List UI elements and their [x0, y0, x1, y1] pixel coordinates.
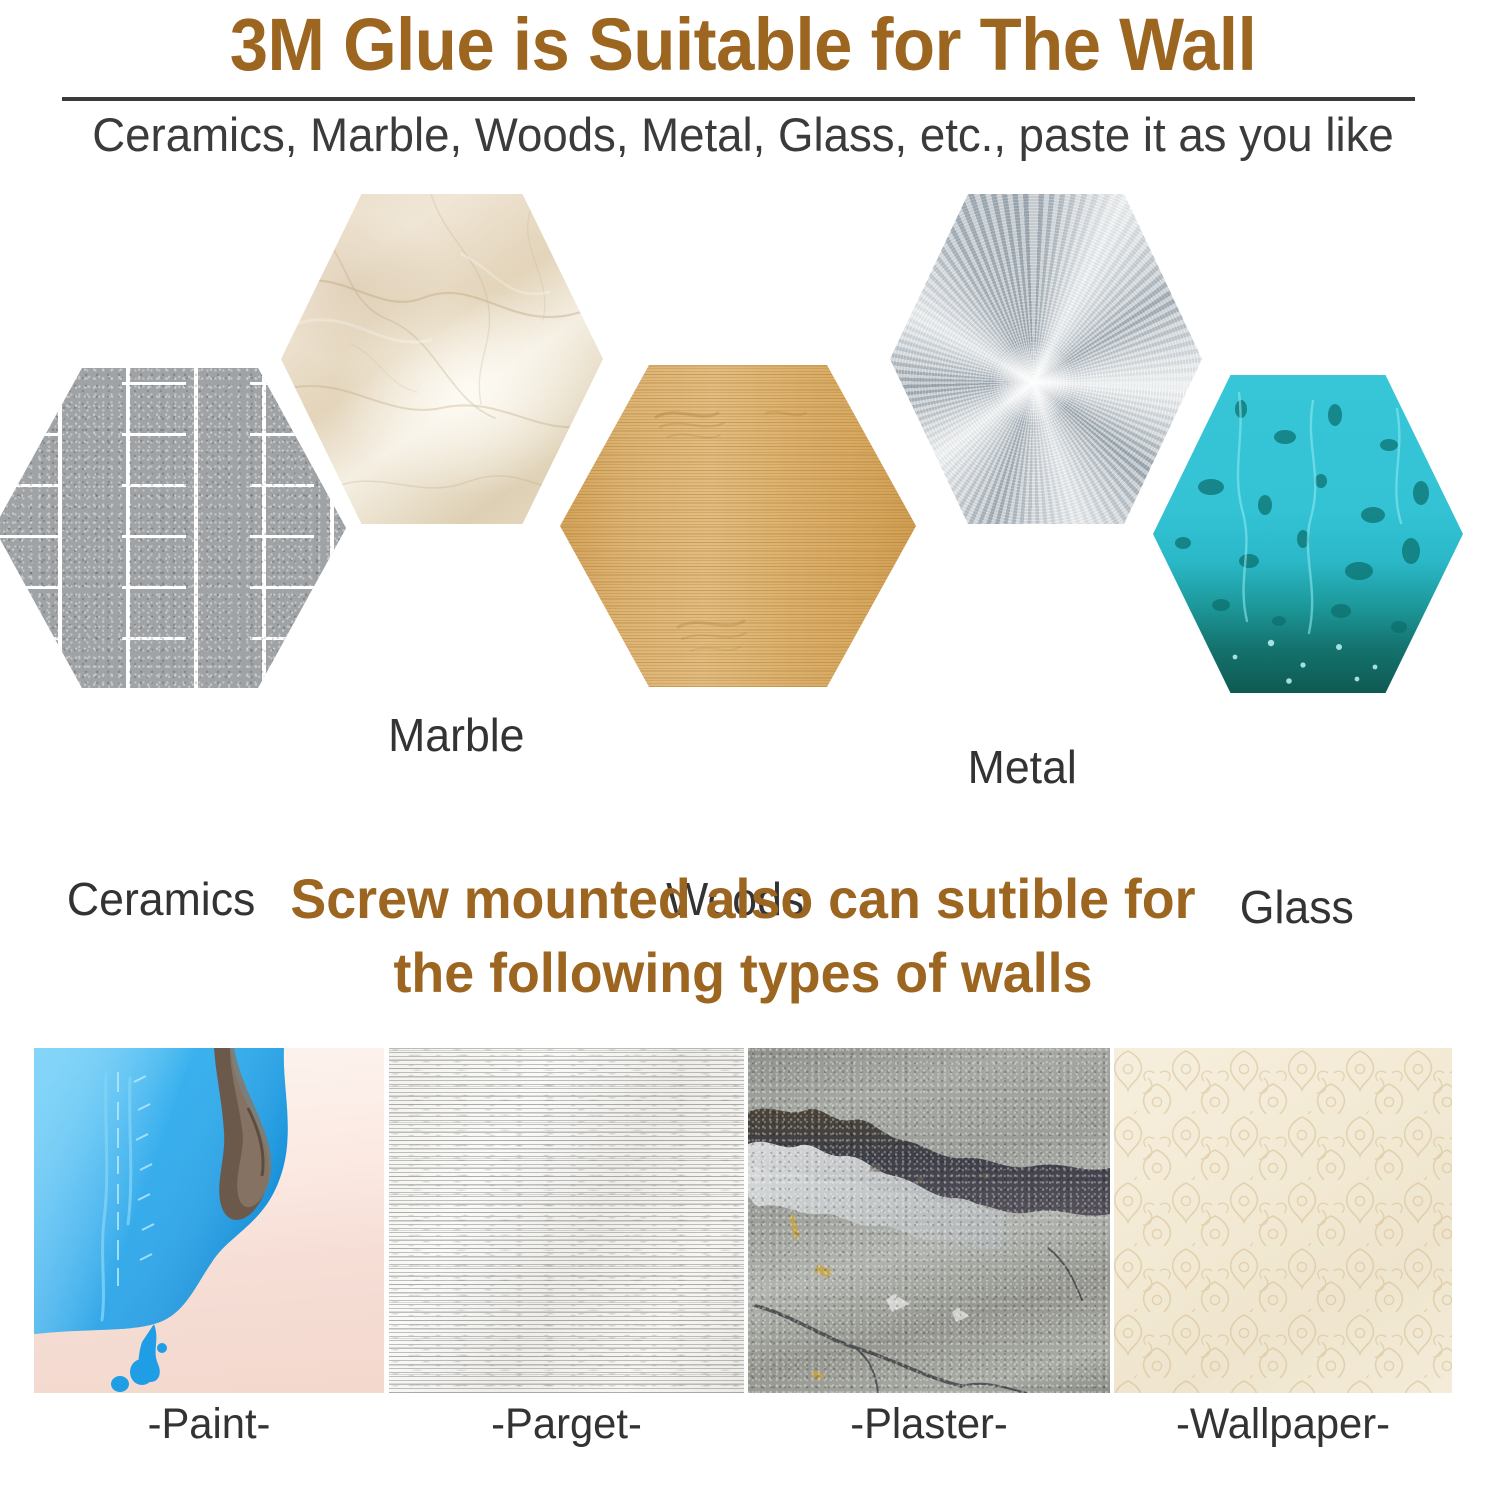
screw-heading-line-1: Screw mounted also can sutible for [30, 862, 1457, 936]
wall-label-wallpaper: -Wallpaper- [1119, 1400, 1447, 1449]
wallpaper-damask-pattern [1114, 1048, 1452, 1393]
surface-hexagon-row: Ceramics Marble Woods Metal Glass [0, 180, 1486, 780]
water-droplet-texture [1153, 375, 1463, 693]
wall-image-plaster [748, 1048, 1110, 1393]
wood-knot-marks [560, 365, 916, 687]
parget-fleck-texture [389, 1048, 744, 1393]
wall-image-wallpaper [1114, 1048, 1452, 1393]
wall-label-paint: -Paint- [39, 1400, 379, 1449]
wall-image-parget [389, 1048, 744, 1393]
marble-vein-lines [281, 194, 603, 524]
hexagon-swatch-glass [1153, 375, 1463, 693]
blue-paint-spill [34, 1048, 384, 1393]
hexagon-swatch-metal [890, 194, 1202, 524]
title-divider-rule [62, 97, 1415, 101]
ceramics-speckle-texture [0, 368, 346, 688]
hexagon-swatch-ceramics [0, 368, 346, 688]
hexagon-swatch-woods [560, 365, 916, 687]
screw-mount-heading: Screw mounted also can sutible for the f… [30, 862, 1457, 1010]
hexagon-swatch-marble [281, 194, 603, 524]
screw-heading-line-2: the following types of walls [30, 936, 1457, 1010]
plaster-grain-overlay [748, 1048, 1110, 1393]
wall-type-row: -Paint- -Parget- [0, 1048, 1486, 1485]
hexagon-label-marble: Marble [388, 708, 524, 762]
wall-image-paint [34, 1048, 384, 1393]
page-subtitle: Ceramics, Marble, Woods, Metal, Glass, e… [22, 107, 1463, 162]
page-title: 3M Glue is Suitable for The Wall [52, 2, 1434, 87]
metal-center-highlight [890, 194, 1202, 524]
wall-label-parget: -Parget- [394, 1400, 738, 1449]
wall-label-plaster: -Plaster- [753, 1400, 1104, 1449]
hexagon-label-metal: Metal [968, 740, 1077, 794]
